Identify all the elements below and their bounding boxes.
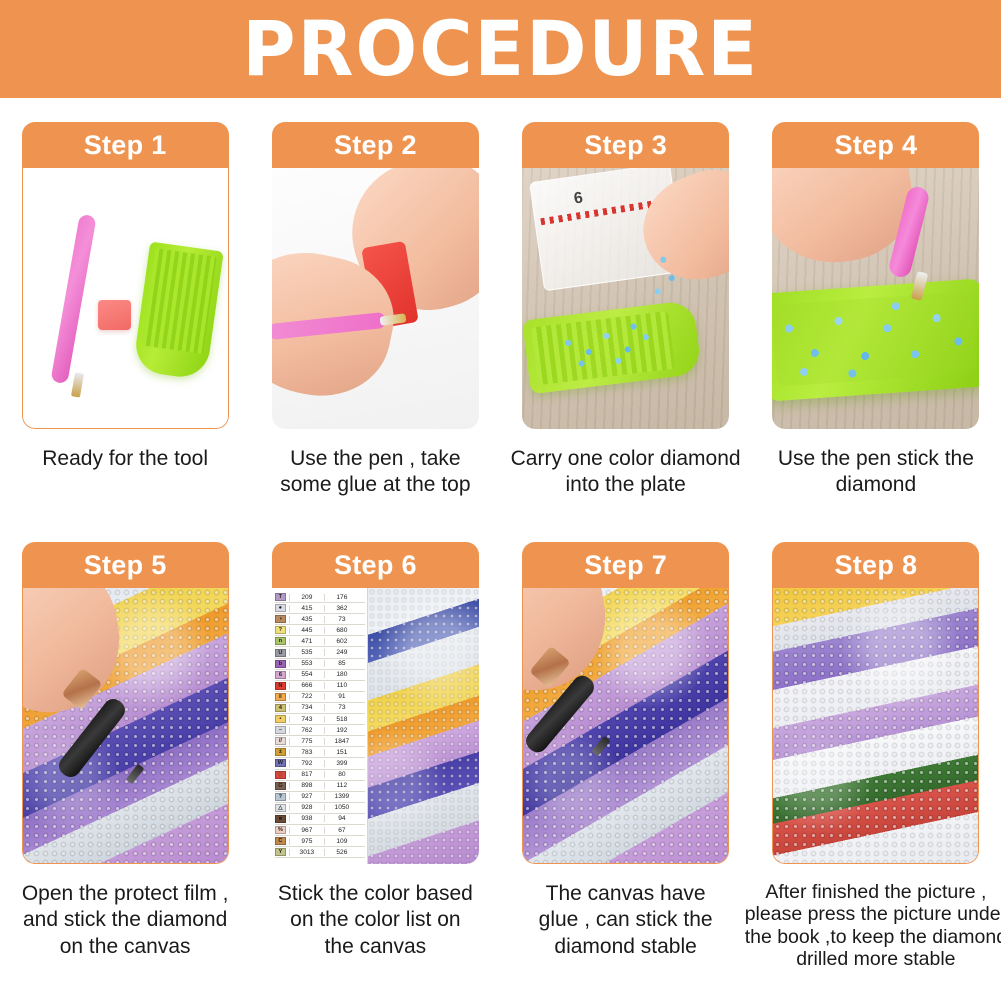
color-symbol-swatch: N bbox=[275, 682, 286, 690]
color-code: 762 bbox=[289, 727, 324, 734]
step-card-1: Step 1 bbox=[22, 122, 229, 429]
step-cell-2: Step 2 Use the pen , take some glue at t… bbox=[250, 122, 500, 552]
color-count: 110 bbox=[324, 682, 359, 689]
color-symbol-swatch: ? bbox=[275, 626, 286, 634]
step-card-2: Step 2 bbox=[272, 122, 479, 429]
step-caption-2: Use the pen , take some glue at the top bbox=[257, 446, 493, 499]
steps-row-bottom: Step 5 Open the protect film , and stick… bbox=[0, 542, 1001, 982]
step-card-7: Step 7 bbox=[522, 542, 729, 864]
diamond-canvas-mosaic bbox=[368, 588, 479, 864]
step-cell-6: Step 6 T209176●415362◑43573?445680n47160… bbox=[250, 542, 500, 982]
color-count: 192 bbox=[324, 727, 359, 734]
color-code: 734 bbox=[289, 704, 324, 711]
green-tray-icon bbox=[132, 241, 223, 380]
color-code: 817 bbox=[289, 771, 324, 778]
color-code: 743 bbox=[289, 716, 324, 723]
finished-diamond-painting bbox=[773, 588, 978, 863]
step-card-8: Step 8 bbox=[772, 542, 979, 864]
step-caption-3: Carry one color diamond into the plate bbox=[508, 446, 744, 499]
color-code: 783 bbox=[289, 749, 324, 756]
color-list-row: 473473 bbox=[275, 703, 365, 714]
color-list-row: •743518 bbox=[275, 714, 365, 725]
color-symbol-swatch: ? bbox=[275, 793, 286, 801]
color-code: 792 bbox=[289, 760, 324, 767]
color-code: 553 bbox=[289, 660, 324, 667]
color-list-row: ●415362 bbox=[275, 603, 365, 614]
canvas-area bbox=[368, 588, 479, 864]
color-code: 928 bbox=[289, 804, 324, 811]
color-count: 67 bbox=[324, 827, 359, 834]
color-list-row: W792399 bbox=[275, 758, 365, 769]
step-card-4: Step 4 bbox=[772, 122, 979, 429]
color-code: 554 bbox=[289, 671, 324, 678]
step-caption-4: Use the pen stick the diamond bbox=[758, 446, 994, 499]
step-header-5: Step 5 bbox=[22, 542, 229, 588]
color-symbol-swatch: b bbox=[275, 660, 286, 668]
color-list-photo: T209176●415362◑43573?445680n471602U53524… bbox=[272, 588, 479, 864]
pen-tip-icon bbox=[71, 372, 84, 397]
color-symbol-swatch: G bbox=[275, 782, 286, 790]
color-symbol-swatch: • bbox=[275, 715, 286, 723]
blue-diamond-pile bbox=[772, 291, 977, 387]
color-list-row: 6554180 bbox=[275, 670, 365, 681]
step-photo-4 bbox=[772, 168, 979, 429]
color-list-row: ?445680 bbox=[275, 625, 365, 636]
color-count: 680 bbox=[324, 627, 359, 634]
color-count: 1399 bbox=[324, 793, 359, 800]
color-count: 249 bbox=[324, 649, 359, 656]
color-symbol-swatch: ■ bbox=[275, 815, 286, 823]
color-code: 975 bbox=[289, 838, 324, 845]
color-symbol-swatch: // bbox=[275, 737, 286, 745]
step-cell-7: Step 7 The canvas have glue , can stick … bbox=[501, 542, 751, 982]
page-banner: PROCEDURE bbox=[0, 0, 1001, 98]
color-count: 602 bbox=[324, 638, 359, 645]
color-list-row: T209176 bbox=[275, 592, 365, 603]
color-code: 415 bbox=[289, 605, 324, 612]
pink-pen-icon bbox=[50, 214, 96, 384]
color-list-row: ?9271399 bbox=[275, 792, 365, 803]
step-header-8: Step 8 bbox=[772, 542, 979, 588]
steps-row-top: Step 1 Ready for the tool Step 2 bbox=[0, 122, 1001, 552]
color-count: 399 bbox=[324, 760, 359, 767]
color-count: 526 bbox=[324, 849, 359, 856]
step-photo-3: 6 bbox=[522, 168, 729, 429]
color-count: 151 bbox=[324, 749, 359, 756]
color-symbol-swatch: 6 bbox=[275, 671, 286, 679]
color-code: 775 bbox=[289, 738, 324, 745]
color-code: 435 bbox=[289, 616, 324, 623]
step-header-4: Step 4 bbox=[772, 122, 979, 168]
step-card-3: Step 3 6 bbox=[522, 122, 729, 429]
step-photo-1 bbox=[22, 168, 229, 429]
color-code: 471 bbox=[289, 638, 324, 645]
step-cell-1: Step 1 Ready for the tool bbox=[0, 122, 250, 552]
step-cell-4: Step 4 Use the pen stick the diamond bbox=[751, 122, 1001, 552]
color-symbol-swatch: n bbox=[275, 637, 286, 645]
color-code: 209 bbox=[289, 594, 324, 601]
step-card-5: Step 5 bbox=[22, 542, 229, 864]
step-cell-5: Step 5 Open the protect film , and stick… bbox=[0, 542, 250, 982]
step-header-1: Step 1 bbox=[22, 122, 229, 168]
step-caption-8: After finished the picture , please pres… bbox=[742, 881, 1001, 971]
color-list-row: ±783151 bbox=[275, 747, 365, 758]
color-symbol-swatch: Y bbox=[275, 848, 286, 856]
step-photo-6: T209176●415362◑43573?445680n471602U53524… bbox=[272, 588, 479, 864]
color-list-row: n471602 bbox=[275, 636, 365, 647]
color-count: 109 bbox=[324, 838, 359, 845]
step-header-2: Step 2 bbox=[272, 122, 479, 168]
color-symbol-swatch: T bbox=[275, 593, 286, 601]
color-code: 722 bbox=[289, 693, 324, 700]
step-caption-7: The canvas have glue , can stick the dia… bbox=[508, 881, 744, 960]
color-code: 3013 bbox=[289, 849, 324, 856]
color-count: 112 bbox=[324, 782, 359, 789]
step-header-7: Step 7 bbox=[522, 542, 729, 588]
color-symbol-swatch: ‖ bbox=[275, 693, 286, 701]
color-symbol-swatch: ░ bbox=[275, 771, 286, 779]
color-list-row: N666110 bbox=[275, 681, 365, 692]
step-header-3: Step 3 bbox=[522, 122, 729, 168]
steps-grid: Step 1 Ready for the tool Step 2 bbox=[0, 98, 1001, 1001]
color-symbol-swatch: △ bbox=[275, 804, 286, 812]
color-symbol-swatch: 4 bbox=[275, 704, 286, 712]
step-cell-3: Step 3 6 Carry one color diamond into th… bbox=[501, 122, 751, 552]
color-count: 362 bbox=[324, 605, 359, 612]
color-list-row: b55385 bbox=[275, 659, 365, 670]
color-list-row: U535249 bbox=[275, 647, 365, 658]
color-code: 938 bbox=[289, 815, 324, 822]
color-count: 73 bbox=[324, 704, 359, 711]
color-list-row: //7751847 bbox=[275, 736, 365, 747]
color-count: 180 bbox=[324, 671, 359, 678]
color-symbol-swatch: ± bbox=[275, 748, 286, 756]
color-code: 927 bbox=[289, 793, 324, 800]
step-photo-2 bbox=[272, 168, 479, 429]
color-symbol-swatch: – bbox=[275, 726, 286, 734]
color-code: 445 bbox=[289, 627, 324, 634]
step-photo-7 bbox=[522, 588, 729, 864]
color-count: 91 bbox=[324, 693, 359, 700]
step-caption-5: Open the protect film , and stick the di… bbox=[7, 881, 243, 960]
color-count: 85 bbox=[324, 660, 359, 667]
color-list-table: T209176●415362◑43573?445680n471602U53524… bbox=[272, 588, 368, 864]
color-symbol-swatch: ● bbox=[275, 604, 286, 612]
step-cell-8: Step 8 After finished the picture , plea… bbox=[751, 542, 1001, 982]
step-caption-6: Stick the color based on the color list … bbox=[257, 881, 493, 960]
step-header-6: Step 6 bbox=[272, 542, 479, 588]
color-list-row: C975109 bbox=[275, 836, 365, 847]
color-code: 898 bbox=[289, 782, 324, 789]
color-count: 1050 bbox=[324, 804, 359, 811]
color-code: 666 bbox=[289, 682, 324, 689]
page-title: PROCEDURE bbox=[242, 11, 759, 87]
color-list-row: ‖72291 bbox=[275, 692, 365, 703]
color-list-row: ░81780 bbox=[275, 770, 365, 781]
color-symbol-swatch: C bbox=[275, 837, 286, 845]
color-list-row: Y3013526 bbox=[275, 847, 365, 858]
color-count: 94 bbox=[324, 815, 359, 822]
color-list-row: %96767 bbox=[275, 825, 365, 836]
color-count: 176 bbox=[324, 594, 359, 601]
color-symbol-swatch: W bbox=[275, 759, 286, 767]
color-count: 73 bbox=[324, 616, 359, 623]
procedure-infographic: PROCEDURE Step 1 Ready for the tool bbox=[0, 0, 1001, 1001]
color-count: 518 bbox=[324, 716, 359, 723]
color-count: 80 bbox=[324, 771, 359, 778]
color-count: 1847 bbox=[324, 738, 359, 745]
color-list-row: ◑43573 bbox=[275, 614, 365, 625]
color-list-row: △9281050 bbox=[275, 803, 365, 814]
color-symbol-swatch: % bbox=[275, 826, 286, 834]
color-list-row: G898112 bbox=[275, 781, 365, 792]
step-photo-8 bbox=[772, 588, 979, 864]
color-code: 967 bbox=[289, 827, 324, 834]
step-caption-1: Ready for the tool bbox=[7, 446, 243, 472]
step-card-6: Step 6 T209176●415362◑43573?445680n47160… bbox=[272, 542, 479, 864]
color-list-row: ■93894 bbox=[275, 814, 365, 825]
color-list-row: –762192 bbox=[275, 725, 365, 736]
color-symbol-swatch: U bbox=[275, 649, 286, 657]
glue-square-icon bbox=[98, 300, 131, 330]
color-code: 535 bbox=[289, 649, 324, 656]
step-photo-5 bbox=[22, 588, 229, 864]
color-symbol-swatch: ◑ bbox=[275, 615, 286, 623]
